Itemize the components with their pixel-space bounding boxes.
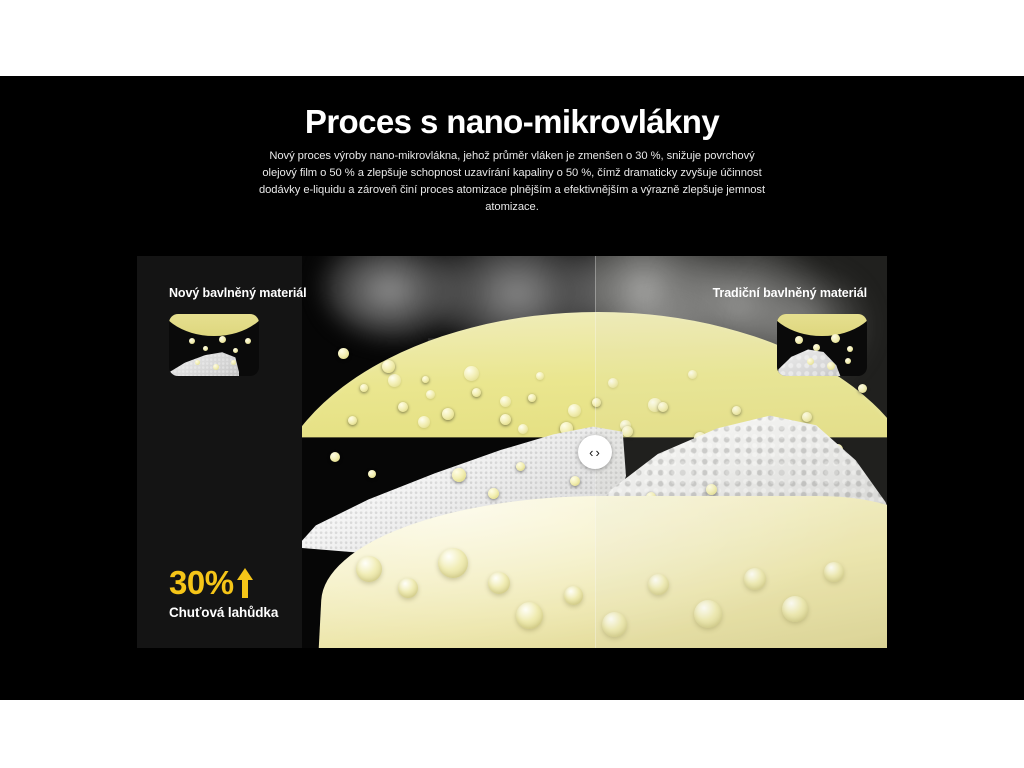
liquid-droplet	[516, 462, 525, 471]
liquid-droplet	[382, 360, 395, 373]
label-new-cotton-material: Nový bavlněný materiál	[169, 286, 306, 300]
hero-section: Proces s nano-mikrovlákny Nový proces vý…	[0, 76, 1024, 700]
liquid-droplet	[422, 376, 429, 383]
liquid-bead	[782, 596, 808, 622]
liquid-droplet	[398, 402, 408, 412]
label-traditional-cotton-material: Tradiční bavlněný materiál	[713, 286, 867, 300]
thumbnail-traditional-cotton-material[interactable]	[777, 314, 867, 376]
liquid-droplet	[472, 388, 481, 397]
liquid-bead	[648, 574, 669, 595]
liquid-bead	[356, 556, 382, 582]
stat-value: 30%	[169, 566, 234, 599]
liquid-droplet	[788, 470, 800, 482]
liquid-droplet	[488, 488, 499, 499]
thumbnail-canopy	[777, 314, 867, 336]
liquid-droplet	[802, 412, 812, 422]
liquid-droplet	[732, 406, 741, 415]
comparison-panel: MAXI VAPER VELKOOBCHOD ELEKTRONICKÝCH CI…	[137, 256, 887, 648]
arrow-up-icon	[237, 568, 253, 598]
liquid-droplet	[694, 432, 706, 444]
liquid-droplet	[348, 416, 357, 425]
liquid-droplet	[452, 468, 466, 482]
chevron-right-icon: ›	[596, 446, 600, 459]
liquid-bead	[744, 568, 766, 590]
liquid-bead	[488, 572, 510, 594]
liquid-droplet	[622, 426, 633, 437]
liquid-bead	[824, 562, 844, 582]
hero-description: Nový proces výroby nano-mikrovlákna, jeh…	[252, 148, 772, 216]
page-title: Proces s nano-mikrovlákny	[0, 102, 1024, 142]
thumbnail-canopy	[169, 314, 259, 336]
liquid-bead	[398, 578, 418, 598]
liquid-droplet	[368, 470, 376, 478]
liquid-droplet	[528, 394, 536, 402]
liquid-droplet	[570, 476, 580, 486]
liquid-droplet	[330, 452, 340, 462]
liquid-droplet	[706, 484, 717, 495]
liquid-droplet	[360, 384, 368, 392]
liquid-droplet	[658, 402, 668, 412]
liquid-bead	[516, 602, 543, 629]
liquid-bead	[564, 586, 583, 605]
liquid-droplet	[560, 422, 573, 435]
liquid-droplet	[766, 438, 779, 451]
liquid-droplet	[858, 384, 867, 393]
comparison-slider-handle[interactable]: ‹ ›	[578, 435, 612, 469]
liquid-droplet	[592, 398, 601, 407]
liquid-bead	[694, 600, 722, 628]
stat-block: 30% Chuťová lahůdka	[169, 566, 278, 620]
thumbnail-fiber-mass	[169, 350, 239, 376]
chevron-left-icon: ‹	[589, 446, 593, 459]
stat-caption: Chuťová lahůdka	[169, 605, 278, 620]
liquid-droplet	[500, 414, 511, 425]
liquid-droplet	[338, 348, 349, 359]
liquid-bead	[602, 612, 627, 637]
smoke-plume-icon	[322, 256, 472, 340]
page-root: Proces s nano-mikrovlákny Nový proces vý…	[0, 0, 1024, 768]
stat-row: 30%	[169, 566, 278, 599]
liquid-droplet	[832, 444, 843, 455]
liquid-droplet	[442, 408, 454, 420]
liquid-bead	[438, 548, 468, 578]
thumbnail-new-cotton-material[interactable]	[169, 314, 259, 376]
